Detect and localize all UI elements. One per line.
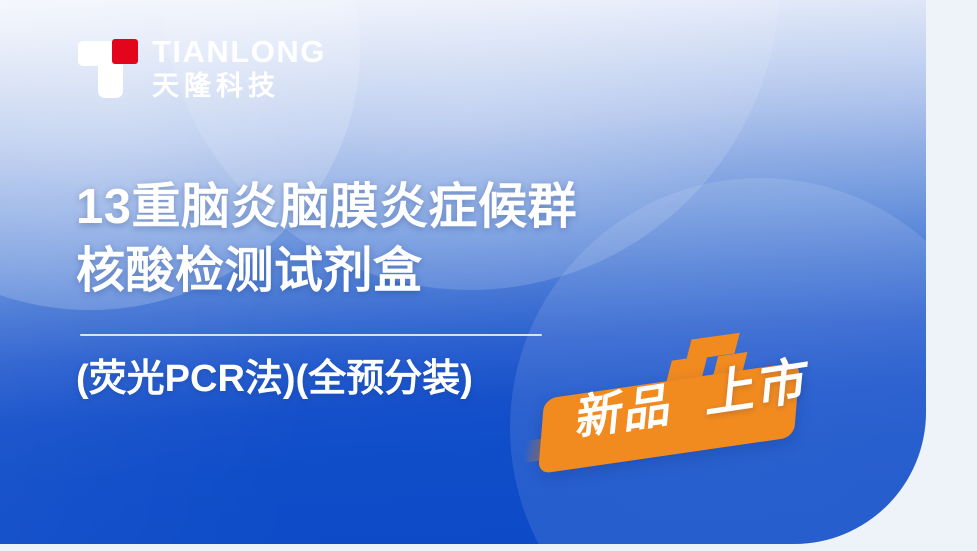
headline-divider: [80, 334, 542, 336]
brand-name-en: TIANLONG: [152, 36, 326, 69]
headline-line-2: 核酸检测试剂盒: [76, 240, 577, 304]
badge-new-label: 新品: [569, 381, 673, 442]
promo-poster: TIANLONG 天隆科技 13重脑炎脑膜炎症候群 核酸检测试剂盒 (荧光PCR…: [0, 0, 977, 551]
tianlong-t-logo-icon: [78, 37, 138, 101]
logo-mark-red-square: [112, 39, 138, 64]
brand-wordmark: TIANLONG 天隆科技: [152, 36, 326, 101]
brand-logo: TIANLONG 天隆科技: [78, 36, 326, 101]
banner-card: TIANLONG 天隆科技 13重脑炎脑膜炎症候群 核酸检测试剂盒 (荧光PCR…: [0, 0, 926, 544]
product-headline: 13重脑炎脑膜炎症候群 核酸检测试剂盒: [76, 176, 577, 303]
new-launch-badge: 新品 上市: [520, 328, 920, 498]
brand-name-cn: 天隆科技: [152, 71, 326, 101]
headline-line-1: 13重脑炎脑膜炎症候群: [76, 176, 577, 240]
product-subtitle: (荧光PCR法)(全预分装): [76, 356, 473, 404]
